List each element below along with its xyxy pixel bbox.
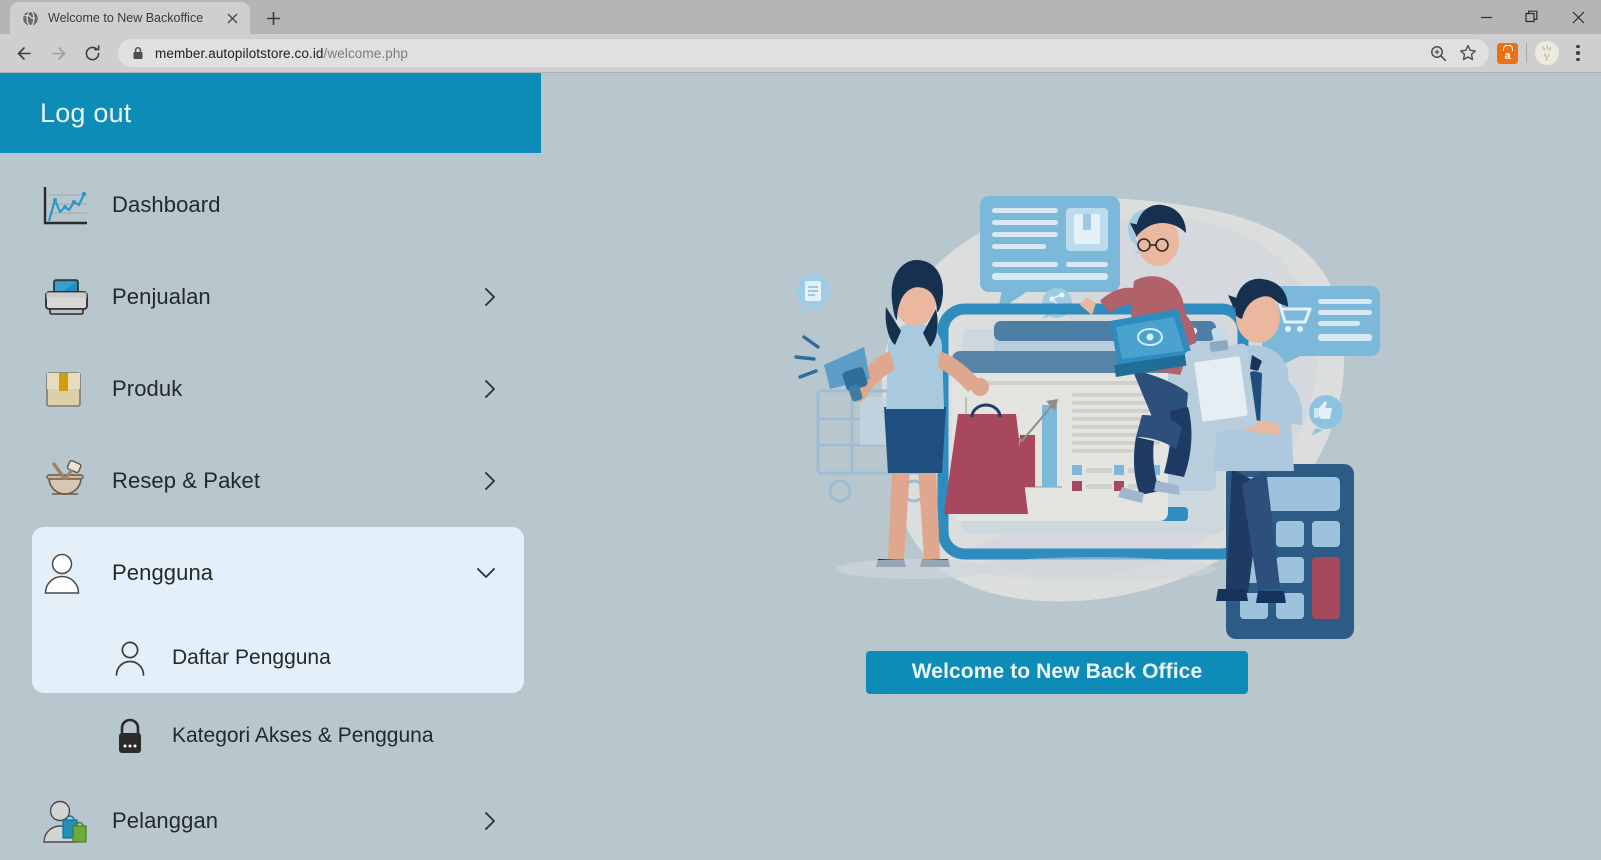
new-tab-button[interactable] (259, 4, 287, 32)
chevron-right-icon[interactable] (483, 810, 497, 832)
welcome-illustration-wrap: Welcome to New Back Office (766, 169, 1386, 769)
toolbar-divider (1526, 43, 1527, 63)
printer-icon (42, 276, 96, 318)
user-outline-icon (110, 639, 150, 677)
box-package-icon (42, 368, 96, 410)
address-bar[interactable]: member.autopilotstore.co.id/welcome.php (118, 39, 1489, 67)
browser-tab[interactable]: Welcome to New Backoffice (10, 2, 250, 34)
close-window-button[interactable] (1555, 0, 1601, 34)
chevron-right-icon[interactable] (483, 378, 497, 400)
minimize-button[interactable] (1463, 0, 1509, 34)
sidebar-nav: Dashboard Penjualan (0, 153, 541, 860)
sidebar-item-label: Dashboard (112, 192, 221, 218)
sidebar-item-penjualan[interactable]: Penjualan (0, 251, 541, 343)
url-domain: member.autopilotstore.co.id (155, 46, 324, 61)
sidebar-item-pelanggan[interactable]: Pelanggan (0, 775, 541, 860)
forward-button[interactable] (42, 37, 74, 69)
page-content: Log out (0, 73, 1601, 860)
chevron-right-icon[interactable] (483, 470, 497, 492)
sidebar: Log out (0, 73, 541, 860)
person-shopping-bags-icon (42, 798, 96, 844)
window-controls (1463, 0, 1601, 34)
sidebar-item-dashboard[interactable]: Dashboard (0, 159, 541, 251)
person-icon (42, 551, 96, 595)
welcome-banner-label: Welcome to New Back Office (912, 660, 1202, 684)
main-content: Welcome to New Back Office (541, 73, 1601, 860)
chart-line-icon (42, 183, 96, 227)
sidebar-item-label: Pelanggan (112, 808, 218, 834)
profile-avatar[interactable] (1535, 41, 1559, 65)
back-button[interactable] (8, 37, 40, 69)
sidebar-subitem-kategori-akses[interactable]: Kategori Akses & Pengguna (0, 697, 541, 775)
browser-toolbar: member.autopilotstore.co.id/welcome.php (0, 34, 1601, 73)
sidebar-group-pengguna: Pengguna (0, 527, 541, 775)
logout-header[interactable]: Log out (0, 73, 541, 153)
sidebar-item-label: Pengguna (112, 560, 213, 586)
digital-marketing-team-illustration (766, 169, 1386, 639)
tab-title: Welcome to New Backoffice (48, 11, 213, 25)
tab-strip: Welcome to New Backoffice (0, 0, 1601, 34)
clipboard (1184, 339, 1257, 434)
sidebar-item-label: Penjualan (112, 284, 211, 310)
sidebar-subitem-label: Daftar Pengguna (172, 646, 331, 670)
browser-window: Welcome to New Backoffice (0, 0, 1601, 860)
zoom-search-icon[interactable] (1425, 40, 1451, 66)
logout-label: Log out (40, 98, 131, 129)
lock-icon (132, 46, 145, 61)
url-path: /welcome.php (324, 46, 409, 61)
maximize-restore-button[interactable] (1509, 0, 1555, 34)
sidebar-item-pengguna[interactable]: Pengguna (0, 527, 541, 619)
chevron-right-icon[interactable] (483, 286, 497, 308)
sidebar-item-resep-paket[interactable]: Resep & Paket (0, 435, 541, 527)
three-dot-menu-icon[interactable] (1565, 40, 1591, 66)
reload-button[interactable] (76, 37, 108, 69)
welcome-banner[interactable]: Welcome to New Back Office (866, 651, 1248, 694)
shopping-bag-extension-icon[interactable]: a (1497, 43, 1518, 64)
clipboard-bubble (796, 274, 830, 313)
lock-icon (110, 716, 150, 756)
mortar-pestle-icon (42, 458, 96, 504)
sidebar-subitem-daftar-pengguna[interactable]: Daftar Pengguna (0, 619, 541, 697)
sidebar-item-label: Resep & Paket (112, 468, 260, 494)
sidebar-item-produk[interactable]: Produk (0, 343, 541, 435)
bookmark-star-icon[interactable] (1455, 40, 1481, 66)
chevron-down-icon[interactable] (475, 566, 497, 580)
globe-icon (22, 10, 39, 27)
sidebar-item-label: Produk (112, 376, 182, 402)
url-text: member.autopilotstore.co.id/welcome.php (155, 46, 408, 61)
sidebar-subitem-label: Kategori Akses & Pengguna (172, 724, 434, 748)
close-tab-icon[interactable] (222, 8, 242, 28)
omnibox-actions (1425, 40, 1481, 66)
